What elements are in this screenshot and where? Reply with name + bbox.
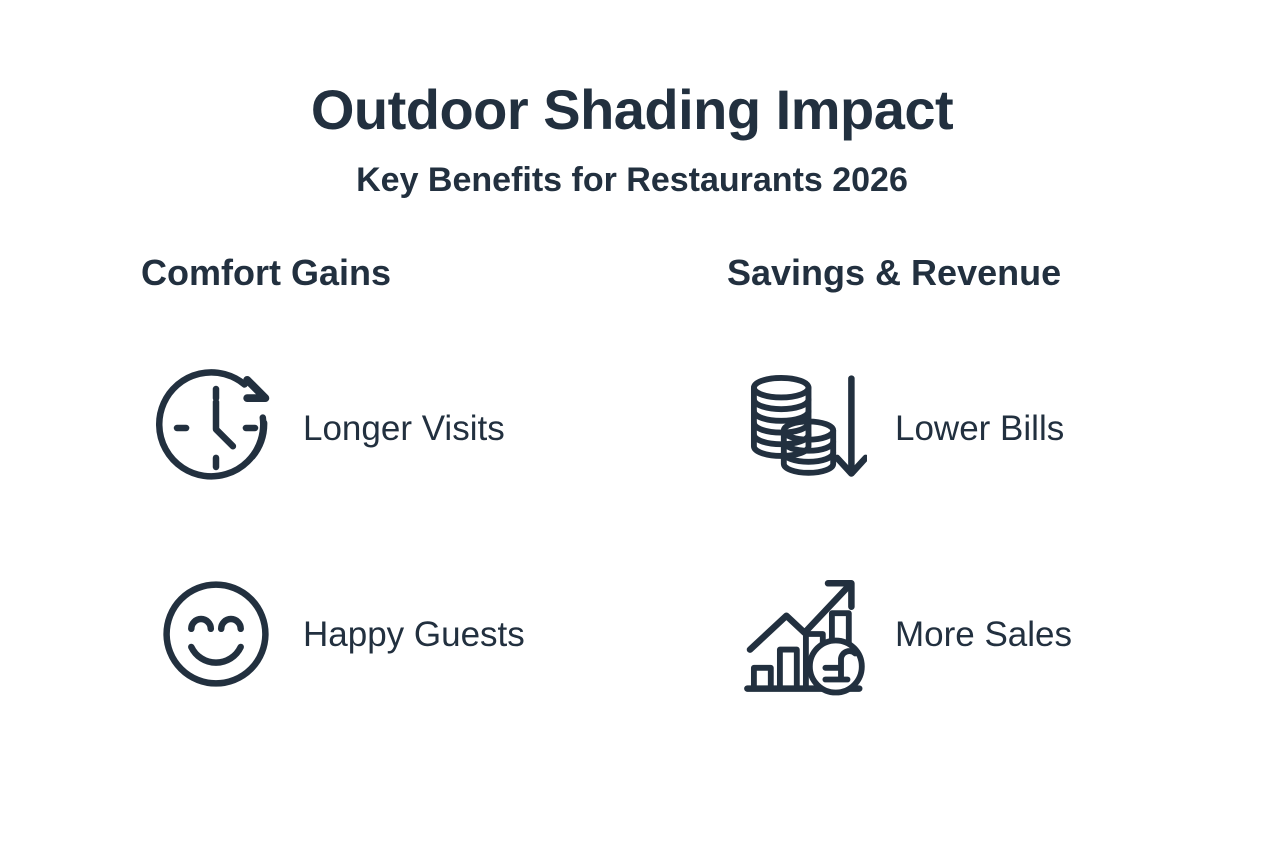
growth-chart-pound-icon [727, 559, 877, 709]
benefit-longer-visits: Longer Visits [141, 353, 505, 503]
page-subtitle: Key Benefits for Restaurants 2026 [356, 163, 908, 197]
column-heading-savings-revenue: Savings & Revenue [727, 255, 1061, 291]
page-title: Outdoor Shading Impact [311, 82, 953, 138]
smiley-face-icon [141, 559, 291, 709]
column-savings-revenue: Savings & Revenue [632, 255, 1137, 709]
column-heading-comfort-gains: Comfort Gains [141, 255, 391, 291]
benefit-columns: Comfort Gains [127, 255, 1137, 709]
benefit-more-sales: More Sales [727, 559, 1072, 709]
benefit-label-longer-visits: Longer Visits [303, 411, 505, 446]
benefit-lower-bills: Lower Bills [727, 353, 1064, 503]
benefit-label-lower-bills: Lower Bills [895, 411, 1064, 446]
benefit-happy-guests: Happy Guests [141, 559, 525, 709]
benefit-label-happy-guests: Happy Guests [303, 617, 525, 652]
clock-arrow-icon [141, 353, 291, 503]
column-comfort-gains: Comfort Gains [127, 255, 632, 709]
coin-stacks-down-arrow-icon [727, 353, 877, 503]
infographic-canvas: Outdoor Shading Impact Key Benefits for … [0, 0, 1264, 848]
benefit-label-more-sales: More Sales [895, 617, 1072, 652]
